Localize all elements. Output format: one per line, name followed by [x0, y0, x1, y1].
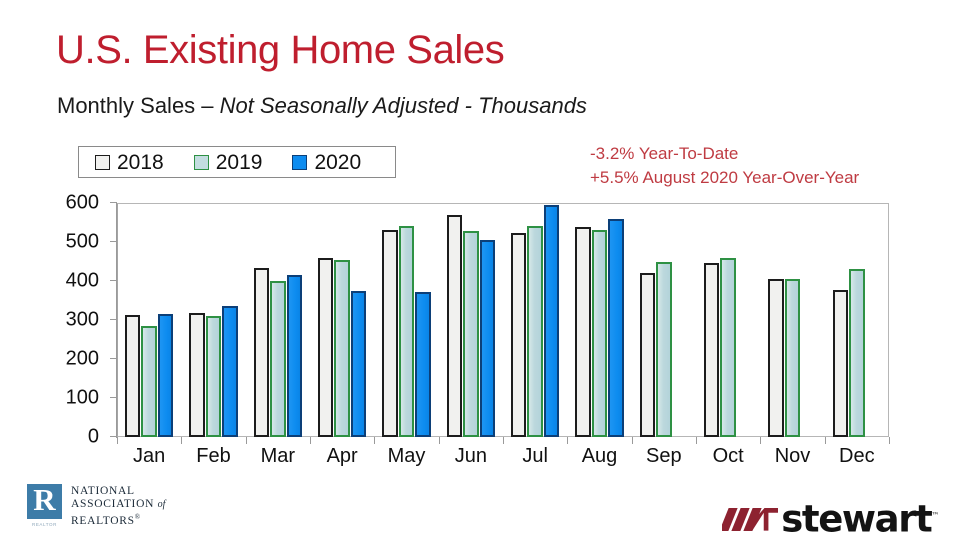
page-title: U.S. Existing Home Sales	[56, 27, 504, 73]
x-axis-tick	[310, 437, 311, 444]
y-axis-labels: 0100200300400500600	[0, 203, 117, 437]
bar-2018-Oct	[704, 263, 720, 437]
x-axis-label-Sep: Sep	[646, 445, 682, 468]
x-axis-tick	[439, 437, 440, 444]
bar-2020-Jul	[544, 205, 560, 437]
y-axis-tick	[110, 358, 117, 359]
x-axis-tick	[825, 437, 826, 444]
x-axis-tick	[696, 437, 697, 444]
y-axis-tick-label: 0	[88, 426, 99, 449]
x-axis-labels: JanFebMarAprMayJunJulAugSepOctNovDec	[117, 445, 889, 475]
bar-2019-Sep	[656, 262, 672, 438]
x-axis-tick	[503, 437, 504, 444]
bar-2020-Feb	[222, 306, 238, 437]
legend-item-2019: 2019	[194, 152, 263, 173]
slide-canvas: U.S. Existing Home Sales Monthly Sales –…	[0, 0, 960, 541]
nar-line-2-of: of	[158, 499, 166, 510]
y-axis-tick	[110, 280, 117, 281]
bar-2019-Jun	[463, 231, 479, 437]
x-axis-tick	[567, 437, 568, 444]
x-axis-label-May: May	[388, 445, 426, 468]
x-axis-tick	[632, 437, 633, 444]
nar-registered-mark: ®	[135, 513, 141, 521]
bar-2018-Mar	[254, 268, 270, 437]
bar-2018-Aug	[575, 227, 591, 437]
x-axis-tick	[117, 437, 118, 444]
bar-2019-Jan	[141, 326, 157, 437]
bar-2019-Oct	[720, 258, 736, 437]
bar-2020-Jan	[158, 314, 174, 437]
y-axis-tick-label: 400	[66, 270, 99, 293]
nar-logo-text: NATIONAL ASSOCIATION of REALTORS®	[71, 484, 165, 528]
nar-logo-sublabel: REALTOR	[27, 522, 62, 527]
nar-logo-mark: R REALTOR	[27, 484, 62, 519]
y-axis-tick	[110, 436, 117, 437]
x-axis-tick	[374, 437, 375, 444]
x-axis-label-Aug: Aug	[582, 445, 618, 468]
nar-line-2: ASSOCIATION of	[71, 498, 165, 512]
annotation-yoy: +5.5% August 2020 Year-Over-Year	[590, 166, 859, 190]
bar-2020-May	[415, 292, 431, 437]
x-axis-label-Mar: Mar	[261, 445, 295, 468]
nar-line-3-main: REALTORS	[71, 515, 135, 527]
legend-item-2018: 2018	[95, 152, 164, 173]
bar-2019-Nov	[785, 279, 801, 437]
legend-swatch-2018-icon	[95, 155, 110, 170]
bar-2018-Jul	[511, 233, 527, 437]
bar-2019-Mar	[270, 281, 286, 437]
chart-legend: 201820192020	[78, 146, 396, 178]
chart-annotations: -3.2% Year-To-Date +5.5% August 2020 Yea…	[590, 142, 859, 190]
y-axis-tick-label: 100	[66, 387, 99, 410]
nar-logo-letter: R	[27, 483, 62, 516]
legend-label-2018: 2018	[117, 152, 164, 173]
x-axis-label-Feb: Feb	[196, 445, 230, 468]
x-axis-tick	[246, 437, 247, 444]
x-axis-tick	[760, 437, 761, 444]
legend-swatch-2020-icon	[292, 155, 307, 170]
stewart-wordmark: stewart™	[781, 497, 938, 537]
annotation-ytd: -3.2% Year-To-Date	[590, 142, 859, 166]
bar-2019-May	[399, 226, 415, 437]
stewart-wordmark-text: stewart	[781, 497, 931, 540]
bar-2018-Sep	[640, 273, 656, 437]
nar-logo: R REALTOR NATIONAL ASSOCIATION of REALTO…	[27, 484, 165, 528]
nar-line-1: NATIONAL	[71, 485, 165, 498]
stewart-trademark: ™	[931, 511, 938, 520]
bar-2020-Apr	[351, 291, 367, 437]
x-axis-label-Jun: Jun	[455, 445, 487, 468]
nar-line-3: REALTORS®	[71, 511, 165, 527]
bar-2018-Nov	[768, 279, 784, 437]
bar-2019-Feb	[206, 316, 222, 437]
bar-2018-Dec	[833, 290, 849, 437]
page-subtitle: Monthly Sales – Not Seasonally Adjusted …	[57, 92, 587, 120]
bar-2018-May	[382, 230, 398, 437]
bar-2018-Jun	[447, 215, 463, 437]
y-axis-tick	[110, 241, 117, 242]
legend-swatch-2019-icon	[194, 155, 209, 170]
x-axis-label-Oct: Oct	[713, 445, 744, 468]
y-axis-line	[116, 202, 117, 438]
legend-label-2019: 2019	[216, 152, 263, 173]
bar-2020-Mar	[287, 275, 303, 437]
y-axis-tick	[110, 397, 117, 398]
y-axis-tick-label: 300	[66, 309, 99, 332]
bar-2018-Apr	[318, 258, 334, 437]
y-axis-tick	[110, 202, 117, 203]
bar-2018-Jan	[125, 315, 141, 437]
y-axis-tick-label: 500	[66, 231, 99, 254]
bar-2019-Jul	[527, 226, 543, 437]
subtitle-plain: Monthly Sales –	[57, 93, 220, 118]
x-axis-label-Jan: Jan	[133, 445, 165, 468]
x-axis-tick	[889, 437, 890, 444]
stewart-logo: stewart™	[722, 497, 938, 537]
bar-2020-Aug	[608, 219, 624, 437]
bar-2018-Feb	[189, 313, 205, 437]
subtitle-italic: Not Seasonally Adjusted - Thousands	[220, 93, 587, 118]
bar-2019-Aug	[592, 230, 608, 437]
x-axis-label-Jul: Jul	[522, 445, 548, 468]
bar-2020-Jun	[480, 240, 496, 437]
stewart-logo-mark	[722, 504, 778, 531]
legend-item-2020: 2020	[292, 152, 361, 173]
x-axis-label-Apr: Apr	[327, 445, 358, 468]
x-axis-label-Dec: Dec	[839, 445, 875, 468]
nar-line-2-main: ASSOCIATION	[71, 498, 158, 510]
y-axis-tick-label: 600	[66, 192, 99, 215]
bar-chart-plot	[117, 203, 889, 437]
bar-2019-Apr	[334, 260, 350, 437]
y-axis-tick	[110, 319, 117, 320]
x-axis-tick	[181, 437, 182, 444]
x-axis-label-Nov: Nov	[775, 445, 811, 468]
legend-label-2020: 2020	[314, 152, 361, 173]
y-axis-tick-label: 200	[66, 348, 99, 371]
bar-2019-Dec	[849, 269, 865, 437]
